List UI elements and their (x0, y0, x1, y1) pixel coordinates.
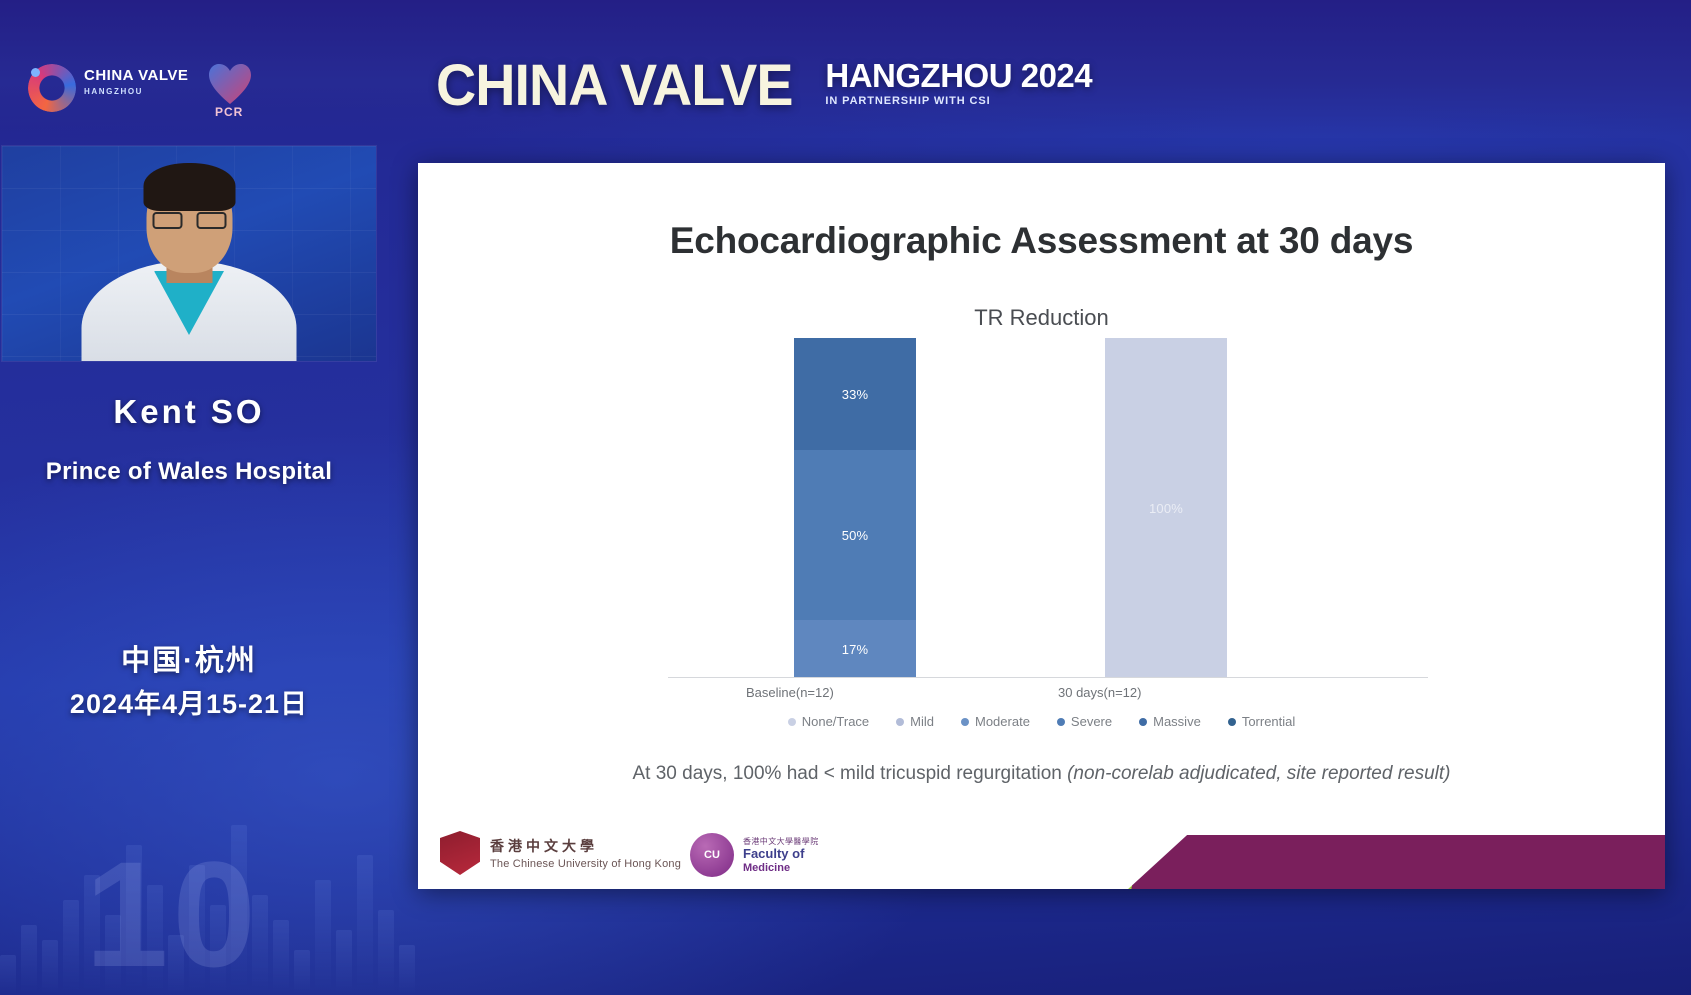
cu-badge-icon: CU (690, 833, 734, 877)
pcr-logo: PCR (205, 62, 263, 117)
edition-number-watermark: 10 (85, 839, 260, 989)
banner-title-main: CHINA VALVE (436, 58, 793, 113)
hair (143, 163, 235, 211)
cumed-faculty-label: Faculty of (743, 847, 819, 862)
bar-segment-value: 33% (842, 387, 869, 402)
cuhk-crest-icon (440, 831, 480, 875)
legend-swatch-icon (788, 718, 796, 726)
event-date: 2024年4月15-21日 (0, 682, 378, 721)
stacked-bar-chart: 33%50%17% 100% (668, 338, 1428, 678)
cuhk-logo: 香港中文大學 The Chinese University of Hong Ko… (440, 831, 681, 875)
x-axis-label-baseline: Baseline(n=12) (746, 685, 834, 700)
x-axis-labels: Baseline(n=12) 30 days(n=12) (668, 685, 1428, 705)
slide-footnote: At 30 days, 100% had < mild tricuspid re… (418, 763, 1665, 785)
presentation-slide[interactable]: Echocardiographic Assessment at 30 days … (418, 163, 1665, 889)
cuhk-name-cn: 香港中文大學 (490, 836, 681, 856)
legend-label: Moderate (975, 714, 1030, 729)
china-valve-logo: CHINA VALVE HANGZHOU (28, 62, 213, 114)
footnote-qualifier: (non-corelab adjudicated, site reported … (1067, 763, 1450, 784)
legend-item-mild: Mild (896, 714, 934, 729)
legend-label: Massive (1153, 714, 1201, 729)
event-banner: CHINA VALVE HANGZHOU PCR CHINA VALVE HAN… (0, 0, 1691, 138)
chart-legend: None/TraceMildModerateSevereMassiveTorre… (418, 714, 1665, 729)
bar-followup: 100% (1105, 338, 1227, 678)
logo-title: CHINA VALVE (84, 68, 188, 83)
legend-item-none-trace: None/Trace (788, 714, 869, 729)
legend-swatch-icon (961, 718, 969, 726)
speaker-name: Kent SO (0, 393, 378, 431)
bar-segment-moderate: 17% (794, 620, 916, 678)
slide-footer: 香港中文大學 The Chinese University of Hong Ko… (418, 811, 1665, 889)
x-axis-line (668, 677, 1428, 678)
cuhk-name-en: The Chinese University of Hong Kong (490, 858, 681, 870)
legend-swatch-icon (896, 718, 904, 726)
pcr-logo-label: PCR (215, 105, 243, 119)
legend-item-moderate: Moderate (961, 714, 1030, 729)
bar-segment-value: 100% (1149, 501, 1183, 516)
banner-title-location-year: HANGZHOU 2024 (825, 59, 1092, 92)
bar-baseline: 33%50%17% (794, 338, 916, 678)
chart-title: TR Reduction (418, 305, 1665, 331)
slide-accent-stripe (1075, 835, 1665, 889)
legend-label: None/Trace (802, 714, 869, 729)
banner-title-block: CHINA VALVE HANGZHOU 2024 IN PARTNERSHIP… (436, 58, 1092, 113)
bar-segment-none-trace: 100% (1105, 338, 1227, 678)
heart-icon (209, 64, 251, 106)
glasses-icon (152, 212, 226, 229)
legend-item-torrential: Torrential (1228, 714, 1295, 729)
speaker-affiliation: Prince of Wales Hospital (0, 458, 378, 486)
legend-label: Torrential (1242, 714, 1295, 729)
logo-subtitle: HANGZHOU (84, 87, 188, 96)
speaker-video-feed (2, 146, 376, 361)
legend-swatch-icon (1228, 718, 1236, 726)
slide-title: Echocardiographic Assessment at 30 days (418, 220, 1665, 262)
bar-segment-massive: 33% (794, 338, 916, 450)
legend-label: Severe (1071, 714, 1112, 729)
x-axis-label-followup: 30 days(n=12) (1058, 685, 1141, 700)
logo-accent-dot-icon (31, 68, 40, 77)
cuhk-medicine-logo: CU 香港中文大學醫學院 Faculty of Medicine (690, 833, 819, 877)
footnote-text: At 30 days, 100% had < mild tricuspid re… (633, 763, 1068, 784)
legend-item-massive: Massive (1139, 714, 1201, 729)
event-city: 中国·杭州 (0, 637, 378, 679)
bar-segment-severe: 50% (794, 450, 916, 620)
legend-swatch-icon (1057, 718, 1065, 726)
bar-segment-value: 17% (842, 642, 869, 657)
banner-title-partnership: IN PARTNERSHIP WITH CSI (825, 95, 1092, 107)
speaker-figure (82, 176, 297, 361)
legend-item-severe: Severe (1057, 714, 1112, 729)
cumed-medicine-label: Medicine (743, 862, 819, 874)
bar-segment-value: 50% (842, 528, 869, 543)
legend-label: Mild (910, 714, 934, 729)
legend-swatch-icon (1139, 718, 1147, 726)
